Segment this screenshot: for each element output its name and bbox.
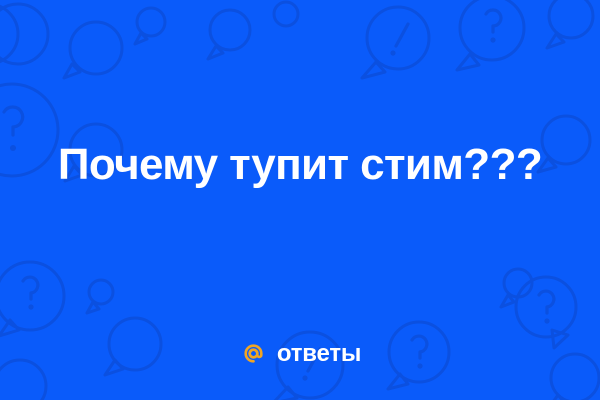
- question-title-container: Почему тупит стим???: [0, 0, 600, 330]
- at-sign-icon: [239, 339, 268, 368]
- share-card: Почему тупит стим??? ответы: [0, 0, 600, 400]
- brand-name: ответы: [277, 342, 361, 366]
- page-title: Почему тупит стим???: [58, 139, 542, 190]
- brand-logo[interactable]: ответы: [0, 339, 600, 368]
